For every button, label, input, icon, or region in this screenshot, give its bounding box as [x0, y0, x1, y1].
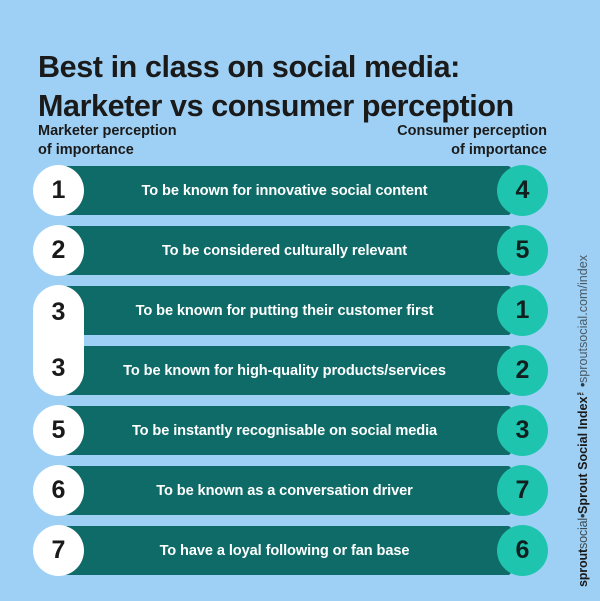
- attribute-label: To be considered culturally relevant: [136, 243, 433, 259]
- ranking-row: To be considered culturally relevant 2 5: [0, 226, 600, 275]
- logo-bold-part: sprout: [576, 549, 590, 587]
- column-header-marketer: Marketer perception of importance: [38, 122, 177, 161]
- page-title-line-1: Best in class on social media:: [38, 48, 568, 87]
- page-title-line-2: Marketer vs consumer perception: [38, 87, 568, 126]
- attribute-bar: To be known for putting their customer f…: [58, 286, 511, 335]
- marketer-rank-value: 3: [52, 287, 66, 338]
- ranking-row: To be known as a conversation driver 6 7: [0, 466, 600, 515]
- marketer-rank-value: 7: [52, 536, 66, 565]
- ranking-row: To have a loyal following or fan base 7 …: [0, 526, 600, 575]
- attribute-bar: To be known for high-quality products/se…: [58, 346, 511, 395]
- index-name: Sprout Social Index™: [576, 387, 590, 514]
- column-header-marketer-line-2: of importance: [38, 141, 177, 160]
- attribute-label: To have a loyal following or fan base: [134, 543, 436, 559]
- consumer-rank-value: 2: [516, 356, 530, 385]
- column-header-consumer-line-1: Consumer perception: [397, 122, 547, 141]
- trademark-symbol: ™: [576, 387, 585, 396]
- ranking-list: To be known for innovative social conten…: [0, 166, 600, 586]
- marketer-rank-value: 1: [52, 176, 66, 205]
- marketer-rank-badge: 5: [33, 405, 84, 456]
- column-header-marketer-line-1: Marketer perception: [38, 122, 177, 141]
- consumer-rank-badge: 2: [497, 345, 548, 396]
- consumer-rank-badge: 4: [497, 165, 548, 216]
- consumer-rank-value: 3: [516, 416, 530, 445]
- marketer-rank-badge: 6: [33, 465, 84, 516]
- page-title: Best in class on social media: Marketer …: [38, 48, 568, 126]
- index-name-text: Sprout Social Index: [576, 396, 590, 514]
- column-header-consumer: Consumer perception of importance: [397, 122, 547, 161]
- brand-source-strip: sproutsocial • Sprout Social Index™ • sp…: [570, 157, 596, 587]
- marketer-rank-badge: 7: [33, 525, 84, 576]
- infographic-canvas: Best in class on social media: Marketer …: [0, 0, 600, 601]
- column-header-consumer-line-2: of importance: [397, 141, 547, 160]
- consumer-rank-value: 6: [516, 536, 530, 565]
- attribute-label: To be instantly recognisable on social m…: [106, 423, 463, 439]
- attribute-bar: To be instantly recognisable on social m…: [58, 406, 511, 455]
- attribute-bar: To have a loyal following or fan base: [58, 526, 511, 575]
- marketer-rank-value: 6: [52, 476, 66, 505]
- ranking-row: To be known for innovative social conten…: [0, 166, 600, 215]
- strip-separator-1: •: [568, 514, 598, 518]
- consumer-rank-badge: 3: [497, 405, 548, 456]
- attribute-label: To be known for high-quality products/se…: [97, 363, 472, 379]
- consumer-rank-badge: 1: [497, 285, 548, 336]
- attribute-bar: To be known as a conversation driver: [58, 466, 511, 515]
- consumer-rank-value: 4: [516, 176, 530, 205]
- ranking-row: To be known for high-quality products/se…: [0, 346, 600, 395]
- consumer-rank-value: 5: [516, 236, 530, 265]
- marketer-rank-badge-tied: 3 3: [33, 285, 84, 396]
- strip-separator-2: •: [568, 383, 598, 387]
- ranking-row: To be known for putting their customer f…: [0, 286, 600, 335]
- ranking-row: To be instantly recognisable on social m…: [0, 406, 600, 455]
- attribute-label: To be known for innovative social conten…: [116, 183, 454, 199]
- attribute-bar: To be considered culturally relevant: [58, 226, 511, 275]
- consumer-rank-badge: 5: [497, 225, 548, 276]
- attribute-bar: To be known for innovative social conten…: [58, 166, 511, 215]
- sprout-social-logo: sproutsocial: [576, 518, 590, 587]
- marketer-rank-badge: 2: [33, 225, 84, 276]
- consumer-rank-badge: 6: [497, 525, 548, 576]
- marketer-rank-badge: 1: [33, 165, 84, 216]
- attribute-label: To be known as a conversation driver: [130, 483, 438, 499]
- source-url: sproutsocial.com/index: [576, 255, 590, 383]
- consumer-rank-value: 7: [516, 476, 530, 505]
- marketer-rank-value: 3: [52, 343, 66, 394]
- marketer-rank-value: 5: [52, 416, 66, 445]
- marketer-rank-value: 2: [52, 236, 66, 265]
- attribute-label: To be known for putting their customer f…: [110, 303, 460, 319]
- consumer-rank-value: 1: [516, 296, 530, 325]
- consumer-rank-badge: 7: [497, 465, 548, 516]
- logo-light-part: social: [576, 518, 590, 549]
